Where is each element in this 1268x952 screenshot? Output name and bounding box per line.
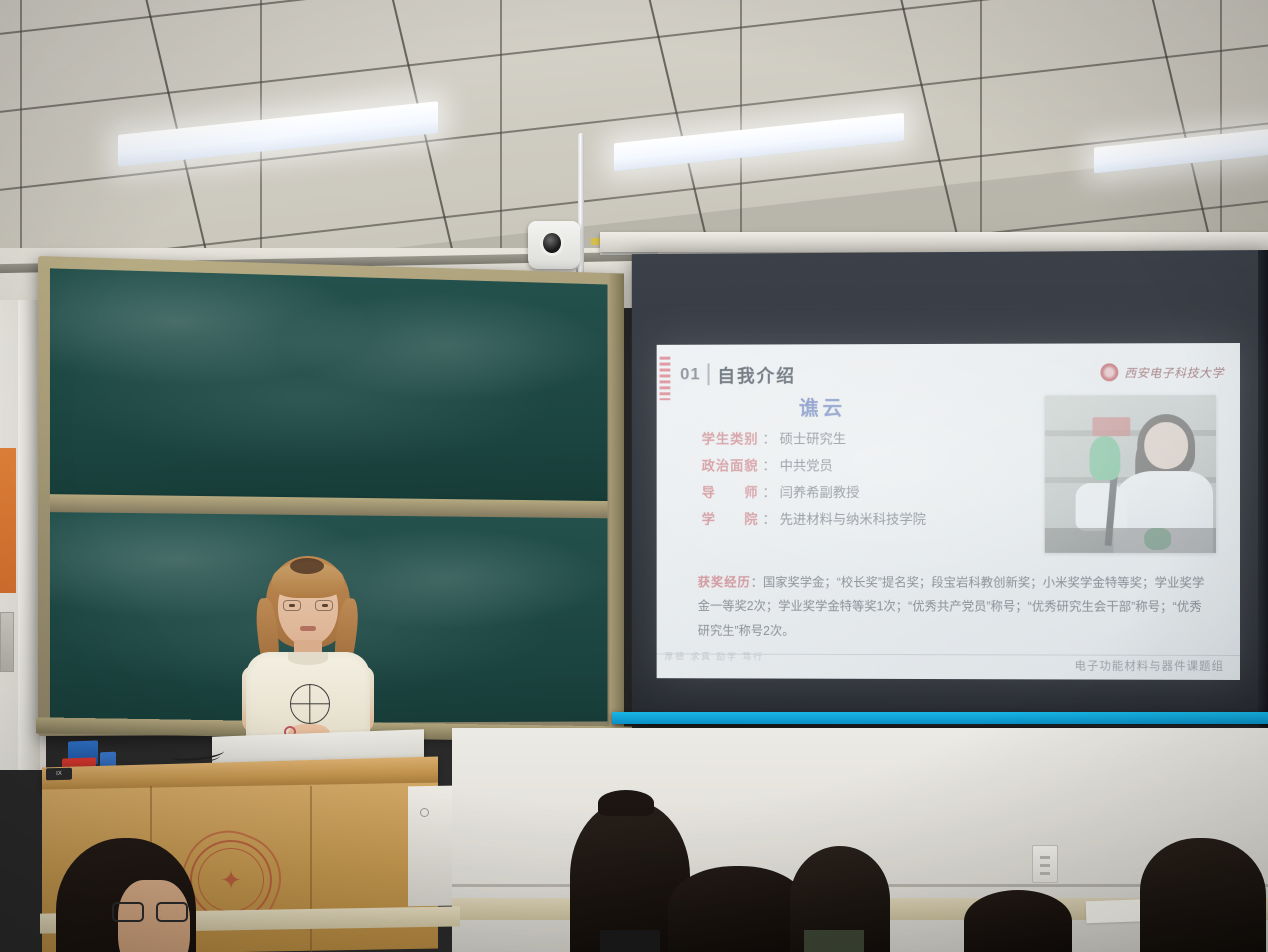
camera-lens-icon [540,230,564,256]
info-colon: ： [762,512,775,529]
audience-shoulders [804,930,864,952]
info-colon: ： [762,432,775,449]
screen-accent-bar [612,712,1268,724]
info-value: 先进材料与纳米科技学院 [780,512,926,529]
slide-stripe-decoration [660,357,671,401]
ceiling [0,0,1268,268]
awards-paragraph: 获奖经历：国家奖学金；“校长奖”提名奖；段宝岩科教创新奖；小米奖学金特等奖；学业… [698,570,1212,644]
slide-footer-text: 电子功能材料与器件课题组 [1075,658,1224,674]
presenter-mouth [300,626,316,631]
info-list: 学生类别 ： 硕士研究生 政治面貌 ： 中共党员 导 师 ： 闫养希副教授 学 … [702,431,988,538]
audience-shoulders [600,930,660,952]
info-row: 学生类别 ： 硕士研究生 [702,431,988,448]
audience-glasses [112,902,188,922]
slide-section-number: 01 [680,364,700,384]
audience-hair-tuft [598,790,654,816]
audience-head [668,866,808,952]
classroom-photo-scene: 01 自我介绍 西安电子科技大学 谯云 学生类别 ： 硕士研究生 政治面貌 ： … [0,0,1268,952]
cabinet-knob [420,808,429,817]
door-jamb [18,300,40,770]
presentation-slide: 01 自我介绍 西安电子科技大学 谯云 学生类别 ： 硕士研究生 政治面貌 ： … [657,343,1240,680]
info-label: 政治面貌 [702,458,763,475]
wall-poster [0,448,16,593]
info-label: 学 院 [702,512,763,529]
info-value: 硕士研究生 [780,432,846,449]
audience-head [964,890,1072,952]
presenter-glasses [283,600,333,611]
info-label: 学生类别 [702,432,763,449]
blackboard-side-rail [609,273,624,733]
awards-text: 国家奖学金；“校长奖”提名奖；段宝岩科教创新奖；小米奖学金特等奖；学业奖学金一等… [698,575,1205,637]
screen-right-edge [1258,250,1268,728]
info-colon: ： [762,458,775,475]
info-label: 导 师 [702,485,763,502]
podium-label-tag: IX [46,768,72,781]
tshirt-globe-graphic-icon [290,684,330,724]
info-colon: ： [762,485,775,502]
slide-section-title: 自我介绍 [717,362,796,388]
slide-title-divider [708,363,710,385]
side-cabinet [408,786,452,907]
presenter-hair-roots [290,558,324,574]
wall-plate [0,612,14,672]
presenter-name: 谯云 [799,392,846,421]
university-seal-icon [1100,363,1118,381]
blackboard-upper-panel [50,268,608,503]
presenter-lab-photo [1045,395,1216,553]
university-logo: 西安电子科技大学 [1100,363,1224,381]
presenter-collar [288,652,328,665]
projection-screen-housing [600,232,1268,252]
info-value: 中共党员 [780,458,833,475]
slide-watermark: 厚德 求真 励学 笃行 [664,650,763,663]
presenter-figure [228,556,388,746]
university-logo-text: 西安电子科技大学 [1124,364,1224,381]
info-row: 导 师 ： 闫养希副教授 [702,485,988,502]
awards-colon: ： [751,575,763,589]
info-row: 政治面貌 ： 中共党员 [702,458,988,475]
info-row: 学 院 ： 先进材料与纳米科技学院 [702,512,988,529]
awards-label: 获奖经历 [698,575,751,589]
audience-head [1140,838,1266,952]
info-value: 闫养希副教授 [780,485,860,502]
power-outlet[interactable] [1032,845,1058,883]
